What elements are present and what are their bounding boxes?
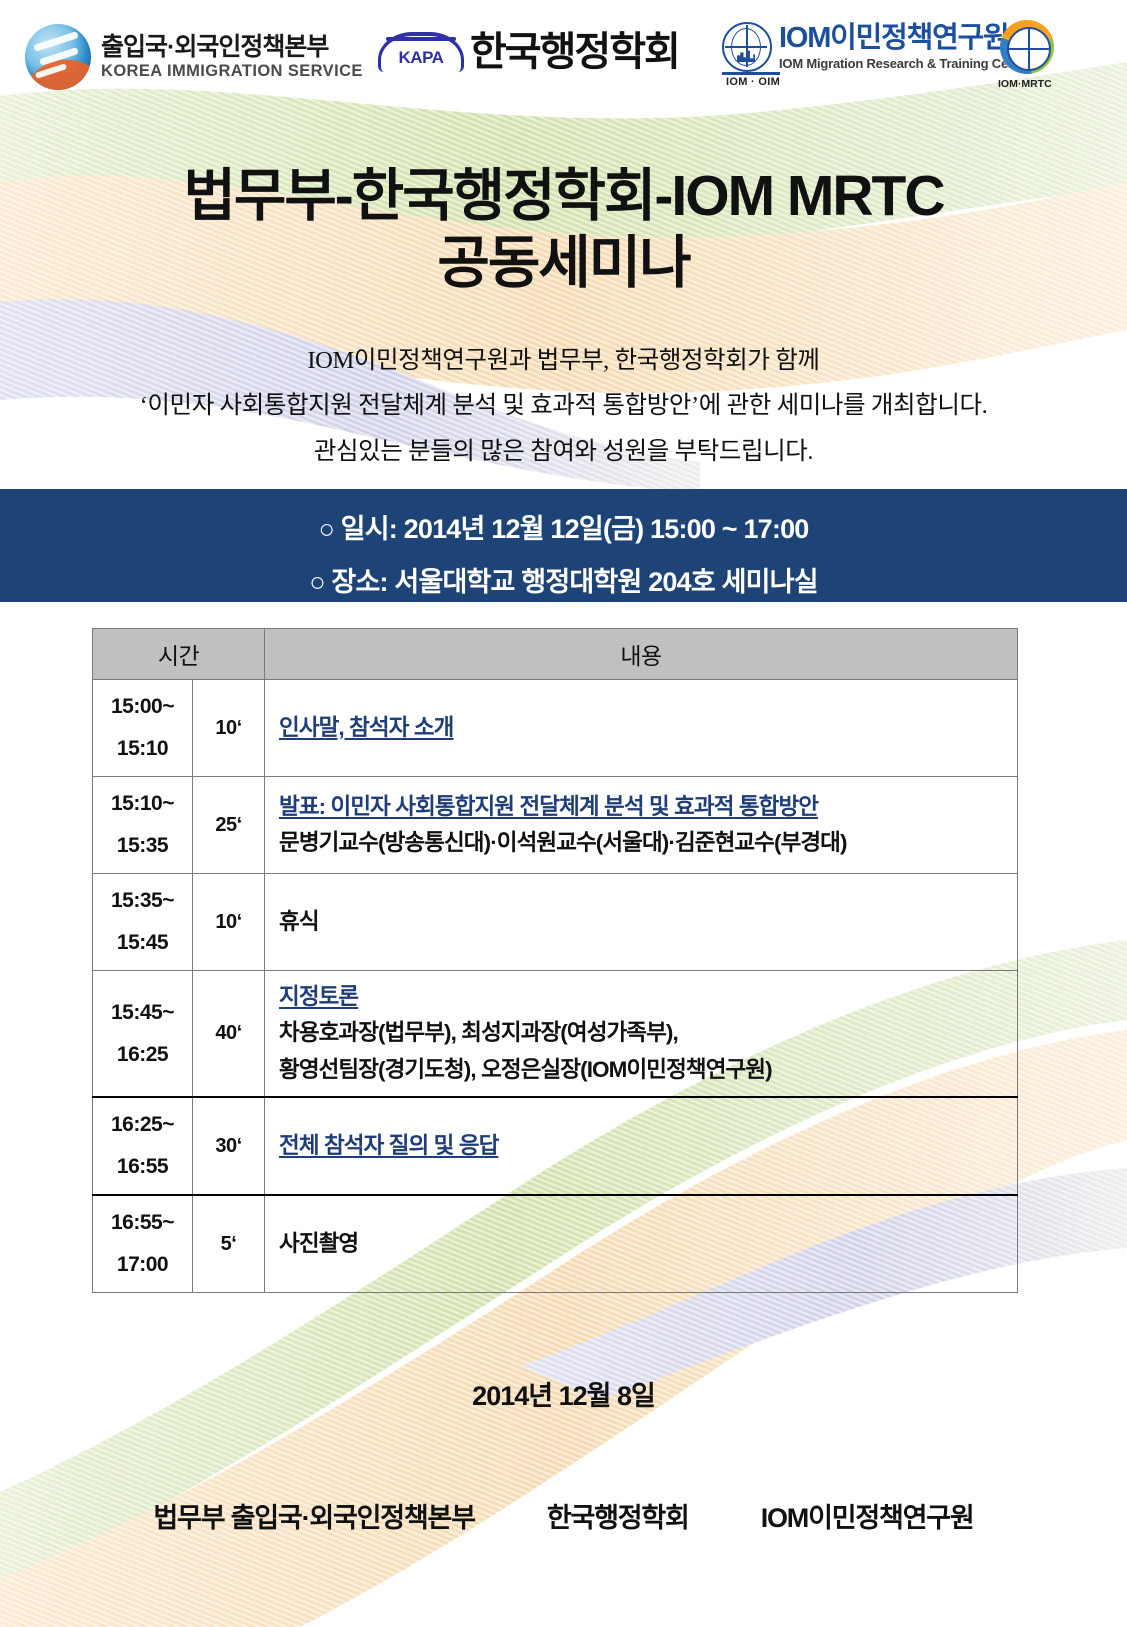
row-duration: 10‘ (193, 680, 265, 777)
table-row: 15:00~ 15:10 10‘ 인사말, 참석자 소개 (93, 680, 1018, 777)
row-content: 전체 참석자 질의 및 응답 (265, 1097, 1018, 1195)
row-time-end: 15:35 (93, 825, 192, 867)
event-datetime: ○ 일시: 2014년 12월 12일(금) 15:00 ~ 17:00 (0, 507, 1127, 546)
row-title: 지정토론 (279, 979, 1017, 1015)
organizer-iom: IOM이민정책연구원 (761, 1496, 974, 1535)
row-time: 16:55~ 17:00 (93, 1195, 193, 1293)
logo-kapa: KAPA 한국행정학회 (378, 28, 679, 76)
row-detail: 황영선팀장(경기도청), 오정은실장(IOM이민정책연구원) (279, 1052, 1017, 1088)
table-row: 15:10~ 15:35 25‘ 발표: 이민자 사회통합지원 전달체계 분석 … (93, 777, 1018, 874)
iom-korean-name: IOM이민정책연구원 (779, 24, 1032, 53)
table-row: 16:25~ 16:55 30‘ 전체 참석자 질의 및 응답 (93, 1097, 1018, 1195)
kapa-gate-icon: KAPA (378, 28, 464, 76)
schedule-table-wrapper: 시간 내용 15:00~ 15:10 10‘ 인사말, 참석자 소개 (92, 628, 1017, 1293)
logo-bar: 출입국·외국인정책본부 KOREA IMMIGRATION SERVICE KA… (0, 0, 1127, 110)
iom-globe-icon (722, 22, 772, 72)
row-title: 인사말, 참석자 소개 (279, 710, 1017, 746)
iom-caption-left: IOM · OIM (726, 76, 780, 88)
row-time-end: 15:10 (93, 728, 192, 770)
organizer-list: 법무부 출입국·외국인정책본부 한국행정학회 IOM이민정책연구원 (0, 1496, 1127, 1535)
iom-rule (722, 72, 780, 75)
row-title: 휴식 (279, 904, 1017, 940)
row-content: 인사말, 참석자 소개 (265, 680, 1018, 777)
row-detail: 차용호과장(법무부), 최성지과장(여성가족부), (279, 1015, 1017, 1051)
row-time-start: 15:45~ (93, 992, 192, 1034)
immigration-globe-icon (25, 24, 91, 90)
event-info-band: ○ 일시: 2014년 12월 12일(금) 15:00 ~ 17:00 ○ 장… (0, 489, 1127, 602)
column-header-time: 시간 (93, 629, 265, 680)
row-content: 휴식 (265, 874, 1018, 971)
kapa-korean-name: 한국행정학회 (470, 32, 679, 72)
row-duration: 40‘ (193, 971, 265, 1098)
intro-line-3: 관심있는 분들의 많은 참여와 성원을 부탁드립니다. (0, 429, 1127, 474)
row-duration: 10‘ (193, 874, 265, 971)
logo-korea-immigration-service: 출입국·외국인정책본부 KOREA IMMIGRATION SERVICE (25, 24, 363, 90)
row-duration: 25‘ (193, 777, 265, 874)
logo-iom-mrtc: IOM이민정책연구원 IOM Migration Research & Trai… (722, 22, 1032, 72)
row-time-end: 17:00 (93, 1244, 192, 1286)
column-header-content: 내용 (265, 629, 1018, 680)
intro-paragraph: IOM이민정책연구원과 법무부, 한국행정학회가 함께 ‘이민자 사회통합지원 … (0, 338, 1127, 474)
row-title: 사진촬영 (279, 1226, 1017, 1262)
organizer-kapa: 한국행정학회 (547, 1496, 689, 1535)
row-title: 전체 참석자 질의 및 응답 (279, 1128, 1017, 1164)
title-line-1: 법무부-한국행정학회-IOM MRTC (183, 164, 943, 228)
row-time-start: 15:35~ (93, 880, 192, 922)
event-location: ○ 장소: 서울대학교 행정대학원 204호 세미나실 (0, 560, 1127, 599)
row-time: 16:25~ 16:55 (93, 1097, 193, 1195)
row-time-start: 15:10~ (93, 783, 192, 825)
table-row: 15:35~ 15:45 10‘ 휴식 (93, 874, 1018, 971)
schedule-table: 시간 내용 15:00~ 15:10 10‘ 인사말, 참석자 소개 (92, 628, 1018, 1293)
row-detail: 문병기교수(방송통신대)·이석원교수(서울대)·김준현교수(부경대) (279, 825, 1017, 861)
kis-english-name: KOREA IMMIGRATION SERVICE (101, 62, 363, 80)
poster-title: 법무부-한국행정학회-IOM MRTC 공동세미나 (0, 163, 1127, 298)
row-time-start: 15:00~ (93, 686, 192, 728)
logo-mrtc-badge: IOM·MRTC (1000, 20, 1054, 74)
table-row: 15:45~ 16:25 40‘ 지정토론 차용호과장(법무부), 최성지과장(… (93, 971, 1018, 1098)
row-time-end: 16:55 (93, 1146, 192, 1188)
schedule-body: 15:00~ 15:10 10‘ 인사말, 참석자 소개 15:10~ 15:3… (93, 680, 1018, 1293)
row-time-start: 16:55~ (93, 1202, 192, 1244)
row-duration: 30‘ (193, 1097, 265, 1195)
table-row: 16:55~ 17:00 5‘ 사진촬영 (93, 1195, 1018, 1293)
row-time: 15:00~ 15:10 (93, 680, 193, 777)
issue-date: 2014년 12월 8일 (0, 1374, 1127, 1413)
intro-line-2: ‘이민자 사회통합지원 전달체계 분석 및 효과적 통합방안’에 관한 세미나를… (0, 383, 1127, 428)
row-time: 15:35~ 15:45 (93, 874, 193, 971)
kis-korean-name: 출입국·외국인정책본부 (101, 34, 363, 60)
row-duration: 5‘ (193, 1195, 265, 1293)
row-time: 15:10~ 15:35 (93, 777, 193, 874)
row-content: 사진촬영 (265, 1195, 1018, 1293)
organizer-moj: 법무부 출입국·외국인정책본부 (153, 1496, 474, 1535)
row-content: 발표: 이민자 사회통합지원 전달체계 분석 및 효과적 통합방안 문병기교수(… (265, 777, 1018, 874)
title-line-2: 공동세미나 (0, 230, 1127, 297)
mrtc-ring-icon (1000, 20, 1054, 74)
intro-line-1: IOM이민정책연구원과 법무부, 한국행정학회가 함께 (0, 338, 1127, 383)
row-time-end: 16:25 (93, 1034, 192, 1076)
schedule-header-row: 시간 내용 (93, 629, 1018, 680)
iom-english-name: IOM Migration Research & Training Centre (779, 56, 1032, 71)
row-time-end: 15:45 (93, 922, 192, 964)
poster-page: 출입국·외국인정책본부 KOREA IMMIGRATION SERVICE KA… (0, 0, 1127, 1627)
row-title: 발표: 이민자 사회통합지원 전달체계 분석 및 효과적 통합방안 (279, 789, 1017, 825)
row-content: 지정토론 차용호과장(법무부), 최성지과장(여성가족부), 황영선팀장(경기도… (265, 971, 1018, 1098)
row-time: 15:45~ 16:25 (93, 971, 193, 1098)
row-time-start: 16:25~ (93, 1104, 192, 1146)
kapa-mark-label: KAPA (378, 48, 464, 68)
mrtc-caption: IOM·MRTC (998, 78, 1052, 90)
